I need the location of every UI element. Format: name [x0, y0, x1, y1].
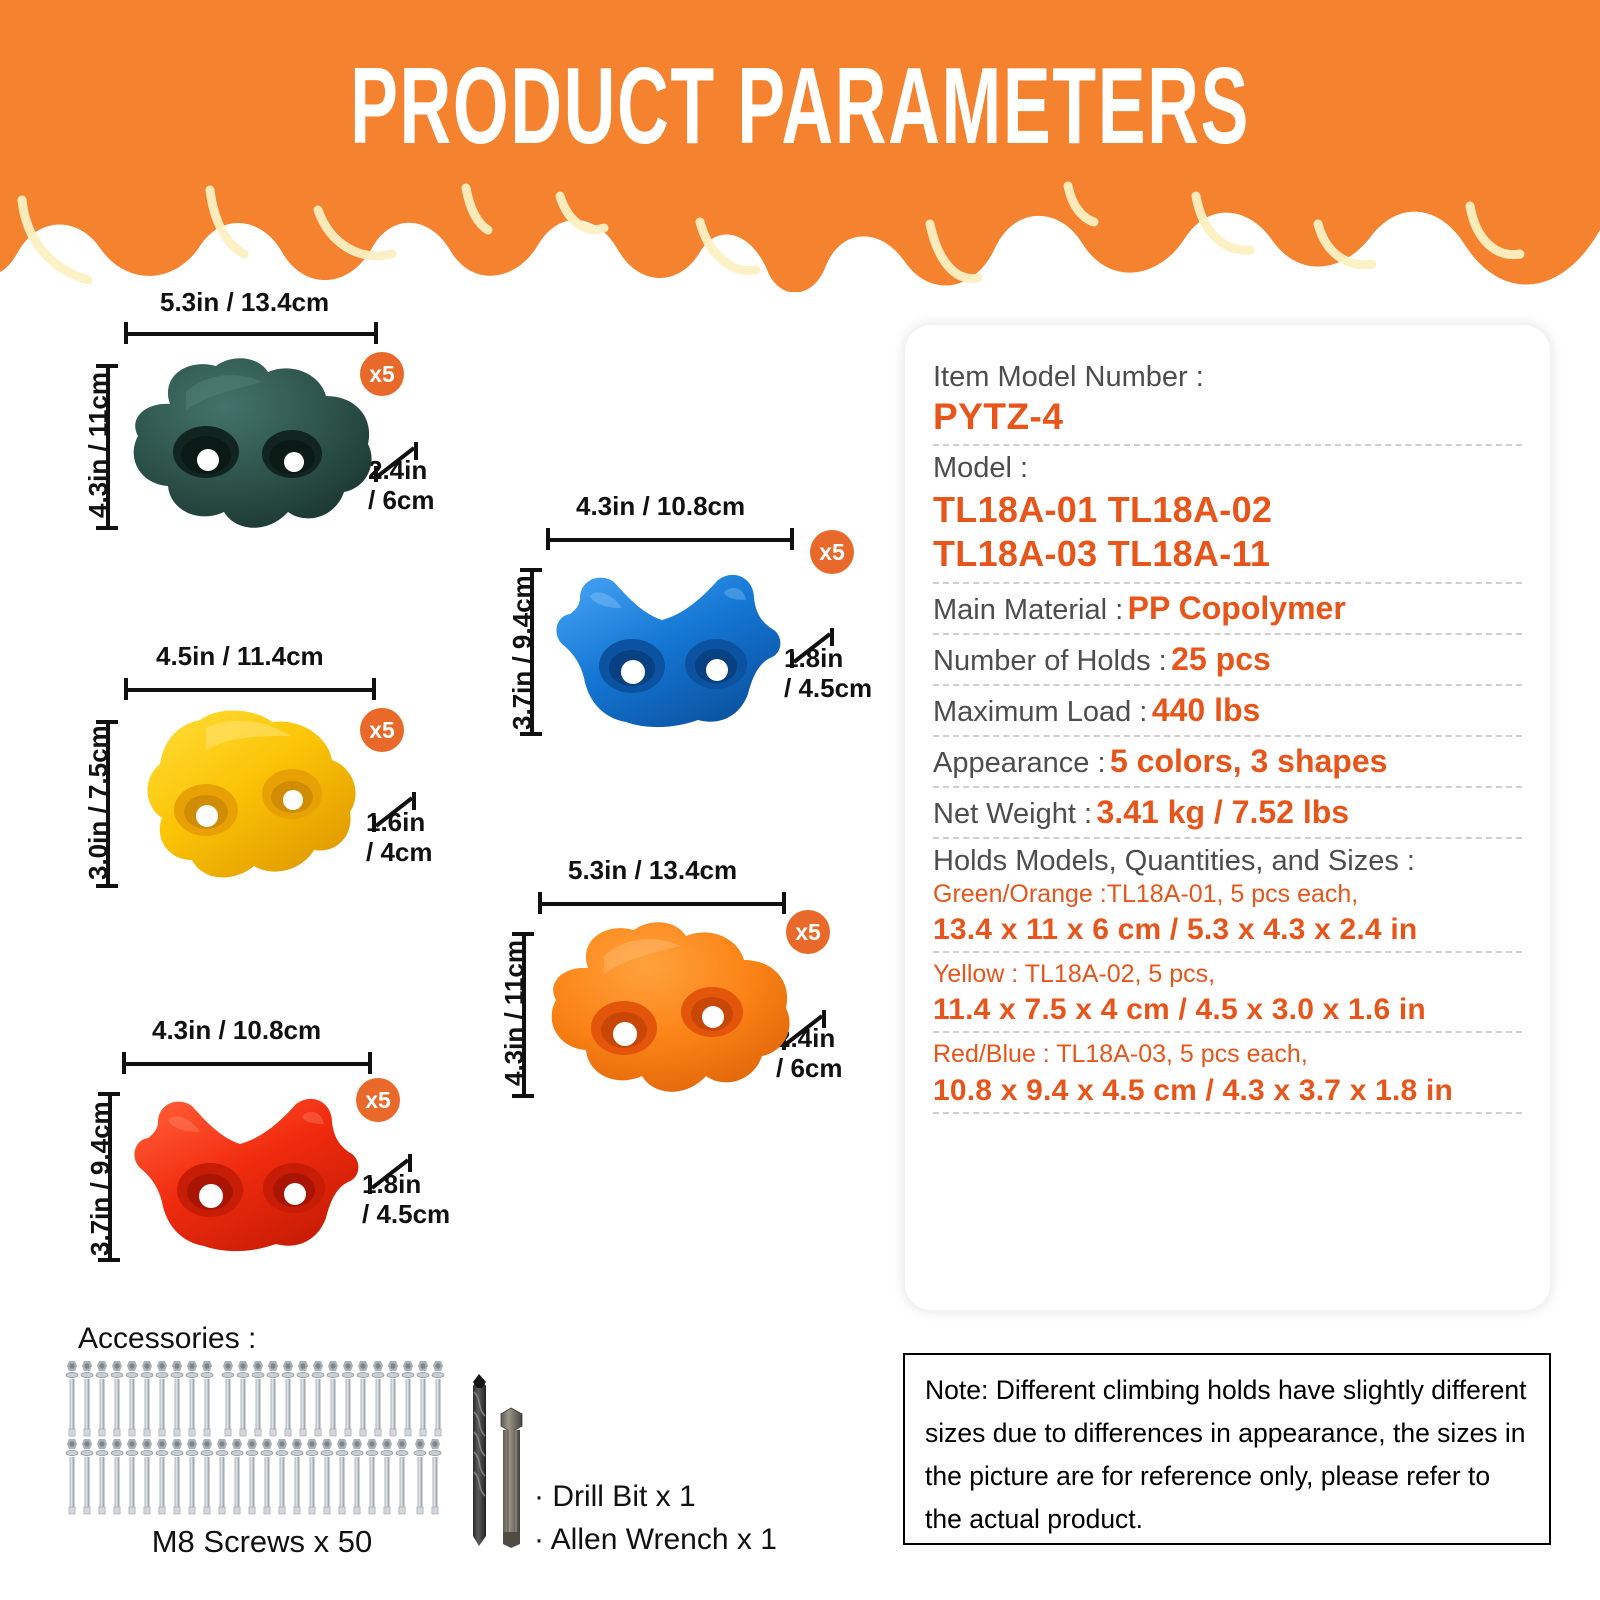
yellow-width-dimline — [126, 688, 376, 692]
drill-bit-item: · Drill Bit x 1 — [534, 1476, 777, 1519]
blue-width-cap-left — [546, 528, 550, 550]
holds-models-name-2: Red/Blue : TL18A-03, 5 pcs each, — [933, 1039, 1522, 1070]
allen-wrench-icon — [501, 1408, 522, 1548]
green-width-cap-left — [124, 322, 128, 344]
model-label: Model : — [933, 452, 1028, 484]
orange-width-label: 5.3in / 13.4cm — [568, 856, 737, 886]
green-width-cap-right — [374, 322, 378, 344]
main-material-value: PP Copolymer — [1128, 590, 1346, 626]
spec-row-model: Model : TL18A-01 TL18A-02 TL18A-03 TL18A… — [933, 446, 1522, 584]
model-value-line1: TL18A-01 TL18A-02 — [933, 488, 1522, 532]
page-title: PRODUCT PARAMETERS — [176, 52, 1424, 161]
green-width-dimline — [126, 332, 378, 336]
blue-width-label: 4.3in / 10.8cm — [576, 492, 745, 522]
spec-row-net-weight: Net Weight : 3.41 kg / 7.52 lbs — [933, 788, 1522, 839]
yellow-width-cap-left — [124, 678, 128, 700]
item-model-number-value: PYTZ-4 — [933, 396, 1522, 438]
note-box: Note: Different climbing holds have slig… — [903, 1353, 1551, 1545]
yellow-width-label: 4.5in / 11.4cm — [156, 642, 324, 672]
spec-row-appearance: Appearance : 5 colors, 3 shapes — [933, 737, 1522, 788]
orange-width-cap-left — [538, 892, 542, 914]
drill-bit-icon — [473, 1374, 486, 1546]
yellow-width-cap-right — [372, 678, 376, 700]
red-width-cap-right — [368, 1052, 372, 1074]
holds-models-title: Holds Models, Quantities, and Sizes : — [933, 845, 1522, 878]
yellow-height-dimline — [106, 722, 110, 888]
note-text: Note: Different climbing holds have slig… — [925, 1369, 1531, 1541]
blue-width-dimline — [548, 538, 794, 542]
holds-models-dims-0: 13.4 x 11 x 6 cm / 5.3 x 4.3 x 2.4 in — [933, 910, 1522, 949]
orange-hold-image — [530, 916, 800, 1106]
red-width-cap-left — [122, 1052, 126, 1074]
red-width-dimline — [124, 1062, 372, 1066]
spec-row-number-of-holds: Number of Holds : 25 pcs — [933, 635, 1522, 686]
red-height-dimline — [108, 1094, 112, 1262]
net-weight-label: Net Weight : — [933, 798, 1092, 830]
spec-row-holds-models-green-orange: Holds Models, Quantities, and Sizes : Gr… — [933, 839, 1522, 953]
maximum-load-label: Maximum Load : — [933, 696, 1147, 728]
orange-width-dimline — [540, 902, 786, 906]
appearance-label: Appearance : — [933, 747, 1106, 779]
red-width-label: 4.3in / 10.8cm — [152, 1016, 321, 1046]
allen-wrench-item: · Allen Wrench x 1 — [534, 1519, 777, 1562]
accessories-title: Accessories : — [78, 1322, 256, 1356]
model-value-line2: TL18A-03 TL18A-11 — [933, 532, 1522, 576]
appearance-value: 5 colors, 3 shapes — [1110, 743, 1387, 779]
holds-models-dims-1: 11.4 x 7.5 x 4 cm / 4.5 x 3.0 x 1.6 in — [933, 990, 1522, 1029]
blue-height-dimline — [530, 570, 534, 736]
blue-width-cap-right — [790, 528, 794, 550]
spec-row-holds-models-yellow: Yellow : TL18A-02, 5 pcs, 11.4 x 7.5 x 4… — [933, 953, 1522, 1033]
main-material-label: Main Material : — [933, 594, 1123, 626]
green-height-dimline — [106, 366, 110, 530]
spec-row-main-material: Main Material : PP Copolymer — [933, 584, 1522, 635]
tool-list: · Drill Bit x 1 · Allen Wrench x 1 — [534, 1476, 777, 1561]
number-of-holds-value: 25 pcs — [1171, 641, 1271, 677]
m8-screws-image — [62, 1358, 462, 1518]
spec-row-item-model-number: Item Model Number : PYTZ-4 — [933, 355, 1522, 446]
green-hold-image — [112, 352, 382, 542]
orange-width-cap-right — [782, 892, 786, 914]
holds-models-name-0: Green/Orange :TL18A-01, 5 pcs each, — [933, 879, 1522, 910]
yellow-hold-image — [114, 702, 380, 898]
blue-hold-image — [536, 558, 798, 746]
spec-panel: Item Model Number : PYTZ-4 Model : TL18A… — [905, 325, 1550, 1310]
maximum-load-value: 440 lbs — [1152, 692, 1261, 728]
number-of-holds-label: Number of Holds : — [933, 645, 1167, 677]
m8-screws-caption: M8 Screws x 50 — [62, 1524, 462, 1560]
header-banner: PRODUCT PARAMETERS — [0, 0, 1600, 292]
blue-quantity-badge: x5 — [810, 530, 854, 574]
holds-models-dims-2: 10.8 x 9.4 x 4.5 cm / 4.3 x 3.7 x 1.8 in — [933, 1071, 1522, 1110]
red-hold-image — [114, 1082, 376, 1270]
orange-height-dimline — [522, 934, 526, 1098]
spec-row-maximum-load: Maximum Load : 440 lbs — [933, 686, 1522, 737]
spec-row-holds-models-red-blue: Red/Blue : TL18A-03, 5 pcs each, 10.8 x … — [933, 1033, 1522, 1113]
green-width-label: 5.3in / 13.4cm — [160, 288, 329, 318]
item-model-number-label: Item Model Number : — [933, 361, 1204, 393]
net-weight-value: 3.41 kg / 7.52 lbs — [1097, 794, 1350, 830]
holds-models-name-1: Yellow : TL18A-02, 5 pcs, — [933, 959, 1522, 990]
